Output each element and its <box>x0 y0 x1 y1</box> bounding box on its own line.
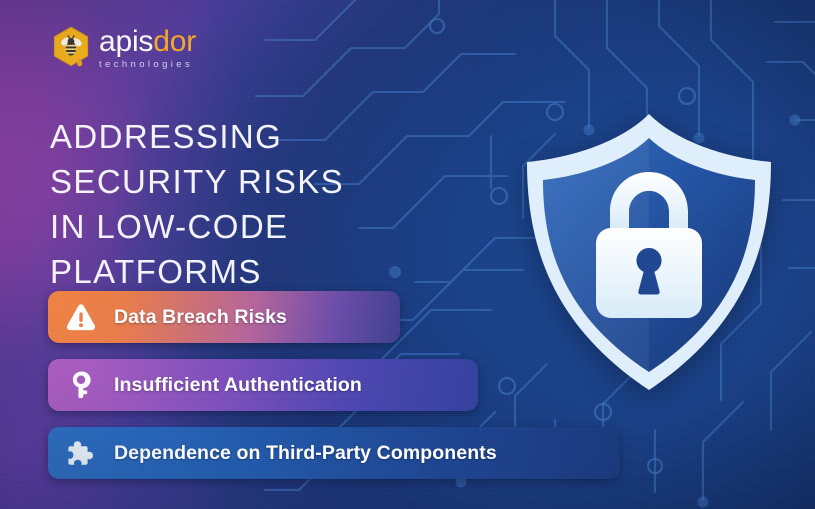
risk-badge-third-party[interactable]: Dependence on Third-Party Components <box>48 427 620 479</box>
logo-wordmark-apis: apis <box>99 25 153 58</box>
logo-wordmark: apisdor <box>99 27 196 57</box>
risk-badge-label: Insufficient Authentication <box>114 374 362 397</box>
security-shield-graphic <box>513 108 785 396</box>
headline-line-3: IN LOW-CODE <box>50 204 470 249</box>
logo-text-block: apisdor technologies <box>99 27 196 70</box>
risk-badge-data-breach[interactable]: Data Breach Risks <box>48 291 400 343</box>
risk-badge-label: Dependence on Third-Party Components <box>114 442 497 465</box>
page-title: ADDRESSING SECURITY RISKS IN LOW-CODE PL… <box>50 114 470 294</box>
key-icon <box>64 368 98 402</box>
logo-wordmark-dor: dor <box>153 25 196 58</box>
warning-triangle-icon <box>64 300 98 334</box>
risk-badge-insufficient-auth[interactable]: Insufficient Authentication <box>48 359 478 411</box>
headline-line-1: ADDRESSING <box>50 114 470 159</box>
poster-canvas: apisdor technologies ADDRESSING SECURITY… <box>0 0 815 509</box>
headline-line-2: SECURITY RISKS <box>50 159 470 204</box>
puzzle-piece-icon <box>64 436 98 470</box>
headline-line-4: PLATFORMS <box>50 249 470 294</box>
logo-tagline: technologies <box>99 60 196 70</box>
risk-badge-label: Data Breach Risks <box>114 306 287 329</box>
bee-hexagon-icon <box>52 26 90 70</box>
brand-logo[interactable]: apisdor technologies <box>52 26 196 70</box>
